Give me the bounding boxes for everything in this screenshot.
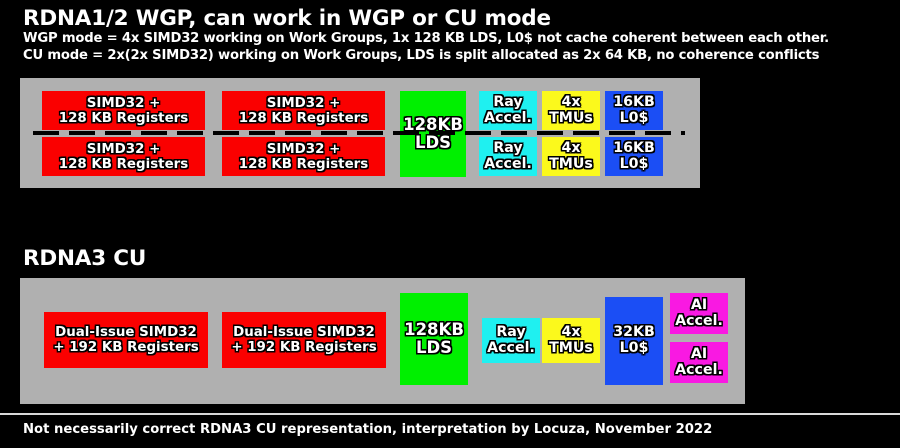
block-line2: Accel. bbox=[484, 111, 532, 127]
block-line1: Dual-Issue SIMD32 bbox=[55, 325, 197, 340]
block-ray-accel-rdna3: Ray Accel. bbox=[482, 318, 540, 363]
block-simd32-bottom-left: SIMD32 + 128 KB Registers bbox=[42, 137, 205, 176]
block-tmus-top: 4x TMUs bbox=[542, 91, 600, 130]
block-simd32-top-left: SIMD32 + 128 KB Registers bbox=[42, 91, 205, 130]
block-line2: Accel. bbox=[675, 314, 723, 330]
block-tmus-rdna3: 4x TMUs bbox=[542, 318, 600, 363]
block-line1: AI bbox=[691, 298, 707, 314]
block-line2: TMUs bbox=[549, 157, 593, 173]
block-dual-issue-simd32-right: Dual-Issue SIMD32 + 192 KB Registers bbox=[222, 312, 386, 368]
footer-attribution: Not necessarily correct RDNA3 CU represe… bbox=[23, 422, 712, 437]
block-line1: SIMD32 + bbox=[87, 96, 161, 111]
block-line1: 4x bbox=[561, 141, 580, 157]
section2-title: RDNA3 CU bbox=[23, 246, 146, 271]
block-ray-accel-top: Ray Accel. bbox=[479, 91, 537, 130]
block-simd32-top-right: SIMD32 + 128 KB Registers bbox=[222, 91, 385, 130]
block-line1: AI bbox=[691, 347, 707, 363]
block-line2: TMUs bbox=[549, 111, 593, 127]
section1-subtitle-wgp-mode: WGP mode = 4x SIMD32 working on Work Gro… bbox=[23, 31, 829, 46]
block-lds-rdna3: 128KB LDS bbox=[400, 293, 468, 385]
block-line1: SIMD32 + bbox=[267, 142, 341, 157]
block-l0-cache-top: 16KB L0$ bbox=[605, 91, 663, 130]
block-simd32-bottom-right: SIMD32 + 128 KB Registers bbox=[222, 137, 385, 176]
block-ray-accel-bottom: Ray Accel. bbox=[479, 137, 537, 176]
block-line1: Ray bbox=[493, 141, 522, 157]
block-line2: LDS bbox=[416, 339, 452, 357]
block-line2: 128 KB Registers bbox=[59, 111, 188, 126]
block-line1: 4x bbox=[561, 325, 580, 341]
block-line1: SIMD32 + bbox=[267, 96, 341, 111]
block-line1: 4x bbox=[561, 95, 580, 111]
section1-subtitle-cu-mode: CU mode = 2x(2x SIMD32) working on Work … bbox=[23, 48, 819, 63]
block-dual-issue-simd32-left: Dual-Issue SIMD32 + 192 KB Registers bbox=[44, 312, 208, 368]
block-line1: Ray bbox=[493, 95, 522, 111]
block-line2: TMUs bbox=[549, 341, 593, 357]
block-line2: Accel. bbox=[487, 341, 535, 357]
block-line2: 128 KB Registers bbox=[59, 157, 188, 172]
block-line2: Accel. bbox=[484, 157, 532, 173]
block-line1: 128KB bbox=[404, 321, 464, 339]
block-line1: SIMD32 + bbox=[87, 142, 161, 157]
block-line2: + 192 KB Registers bbox=[231, 340, 376, 355]
block-l0-cache-bottom: 16KB L0$ bbox=[605, 137, 663, 176]
diagram-canvas: RDNA1/2 WGP, can work in WGP or CU mode … bbox=[0, 0, 900, 448]
block-line2: 128 KB Registers bbox=[239, 157, 368, 172]
block-line1: 16KB bbox=[613, 95, 655, 111]
block-line2: L0$ bbox=[620, 157, 649, 173]
block-line2: 128 KB Registers bbox=[239, 111, 368, 126]
block-ai-accel-bottom: AI Accel. bbox=[670, 342, 728, 383]
section1-title: RDNA1/2 WGP, can work in WGP or CU mode bbox=[23, 6, 551, 31]
block-line2: Accel. bbox=[675, 363, 723, 379]
block-line2: LDS bbox=[415, 134, 451, 152]
block-l0-cache-rdna3: 32KB L0$ bbox=[605, 297, 663, 385]
block-line1: Ray bbox=[496, 325, 525, 341]
block-line2: + 192 KB Registers bbox=[53, 340, 198, 355]
block-line1: 16KB bbox=[613, 141, 655, 157]
block-line2: L0$ bbox=[620, 341, 649, 357]
block-tmus-bottom: 4x TMUs bbox=[542, 137, 600, 176]
block-ai-accel-top: AI Accel. bbox=[670, 293, 728, 334]
block-line1: Dual-Issue SIMD32 bbox=[233, 325, 375, 340]
block-line2: L0$ bbox=[620, 111, 649, 127]
footer-divider bbox=[0, 413, 900, 415]
block-line1: 32KB bbox=[613, 325, 655, 341]
cu-mode-split-dashed-line bbox=[33, 131, 685, 135]
